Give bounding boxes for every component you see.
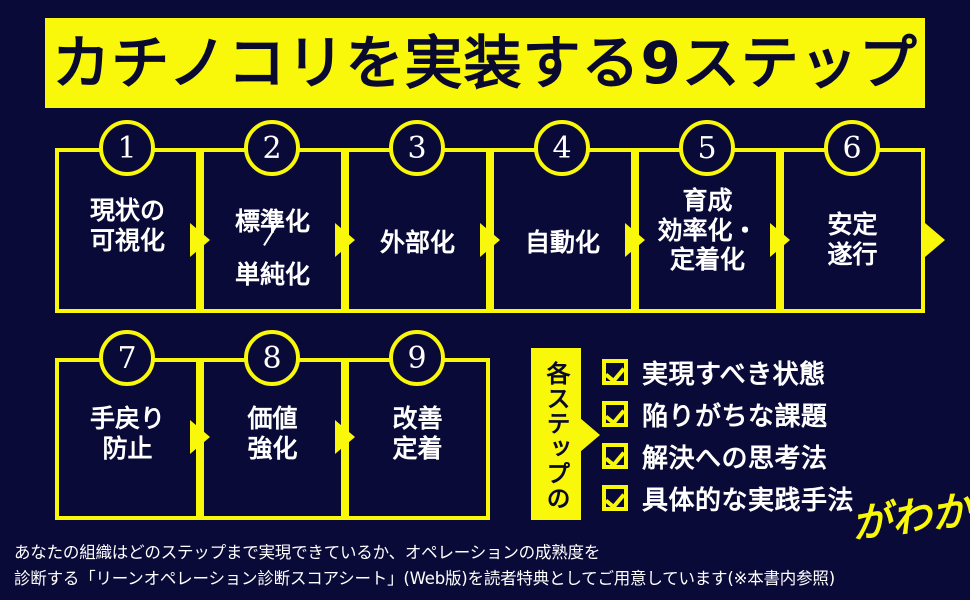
- step-arrow-8-9: [335, 420, 355, 454]
- step-number-2: 2: [244, 120, 300, 176]
- checkbox-checked-icon[interactable]: [602, 401, 628, 427]
- side-tag: 各ステップの: [531, 348, 581, 520]
- step-number-5: 5: [679, 120, 735, 176]
- title-banner: カチノコリを実装する9ステップ: [45, 18, 925, 108]
- footer-caption: あなたの組織はどのステップまで実現できているか、オペレーションの成熟度を 診断す…: [14, 540, 964, 591]
- footer-line-1: あなたの組織はどのステップまで実現できているか、オペレーションの成熟度を: [14, 540, 964, 566]
- checkbox-checked-icon[interactable]: [602, 485, 628, 511]
- step-number-3: 3: [389, 120, 445, 176]
- side-tag-arrow-icon: [580, 418, 600, 452]
- step-number-4: 4: [534, 120, 590, 176]
- step-number-8: 8: [244, 330, 300, 386]
- checkbox-checked-icon[interactable]: [602, 359, 628, 385]
- step-label-6: 安定 遂行: [784, 210, 921, 269]
- step-label-8: 価値 強化: [204, 404, 341, 463]
- checklist-item[interactable]: 陥りがちな課題: [602, 394, 902, 434]
- side-tag-label: 各ステップの: [531, 352, 581, 520]
- step-arrow-4-5: [625, 223, 645, 257]
- step-number-9: 9: [389, 330, 445, 386]
- checklist-item-label: 陥りがちな課題: [642, 396, 828, 433]
- step-label-3: 外部化: [349, 228, 486, 258]
- checklist-item-label: 実現すべき状態: [642, 354, 826, 391]
- step-arrow-5-6: [770, 223, 790, 257]
- step-label-5: 育成 効率化・ 定着化: [639, 186, 776, 275]
- step-label-1: 現状の 可視化: [59, 196, 196, 255]
- footer-line-2: 診断する「リーンオペレーション診断スコアシート」(Web版)を読者特典としてご用…: [14, 566, 964, 592]
- step-label-2: 標準化 単純化: [204, 196, 341, 301]
- step-arrow-1-2: [190, 223, 210, 257]
- step-arrow-7-8: [190, 420, 210, 454]
- step-arrow-3-4: [480, 223, 500, 257]
- step-number-1: 1: [99, 120, 155, 176]
- step-number-6: 6: [824, 120, 880, 176]
- step-number-7: 7: [99, 330, 155, 386]
- checklist-item-label: 具体的な実践手法: [642, 480, 854, 517]
- checklist-item[interactable]: 実現すべき状態: [602, 352, 902, 392]
- step-label-9: 改善 定着: [349, 404, 486, 463]
- page-title: カチノコリを実装する9ステップ: [52, 34, 918, 92]
- checkbox-checked-icon[interactable]: [602, 443, 628, 469]
- infographic-canvas: カチノコリを実装する9ステップ 現状の 可視化 1 標準化 単純化 2 外部化 …: [0, 0, 970, 600]
- checklist-item-label: 解決への思考法: [642, 438, 828, 475]
- step-label-4: 自動化: [494, 228, 631, 258]
- step-arrow-2-3: [335, 223, 355, 257]
- checklist-item[interactable]: 解決への思考法: [602, 436, 902, 476]
- step-label-7: 手戻り 防止: [59, 404, 196, 463]
- step-arrow-6-7: [925, 223, 945, 257]
